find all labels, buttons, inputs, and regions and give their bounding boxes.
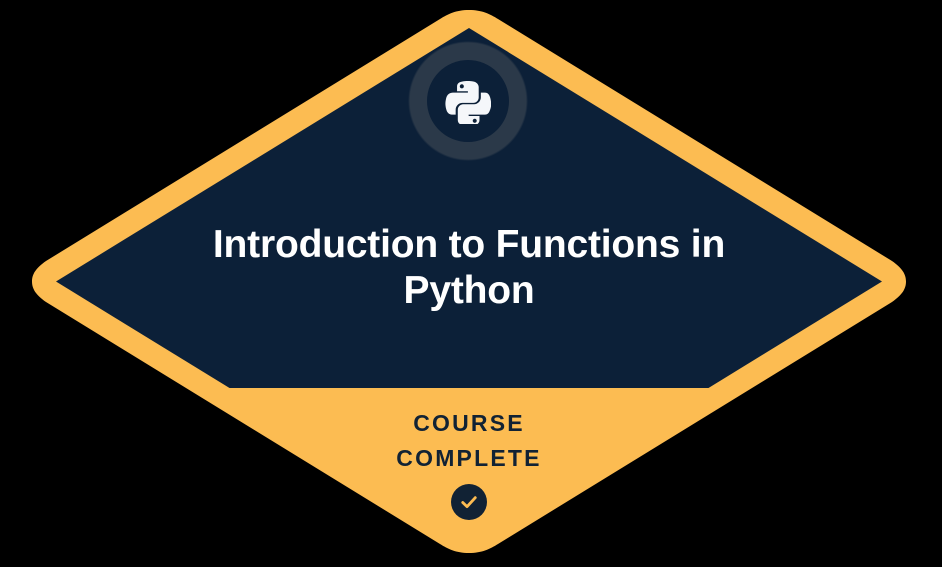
- status-line-course: COURSE: [171, 406, 767, 441]
- status-line-complete: COMPLETE: [171, 441, 767, 476]
- badge-canvas: Introduction to Functions in Python COUR…: [0, 0, 942, 567]
- check-mark-icon: [459, 492, 479, 512]
- course-title: Introduction to Functions in Python: [171, 222, 767, 314]
- python-emblem-inner-circle: [427, 60, 509, 142]
- course-status-block: COURSE COMPLETE: [171, 406, 767, 520]
- python-emblem: [408, 41, 528, 161]
- check-circle-icon: [451, 484, 487, 520]
- python-logo-icon: [445, 78, 491, 124]
